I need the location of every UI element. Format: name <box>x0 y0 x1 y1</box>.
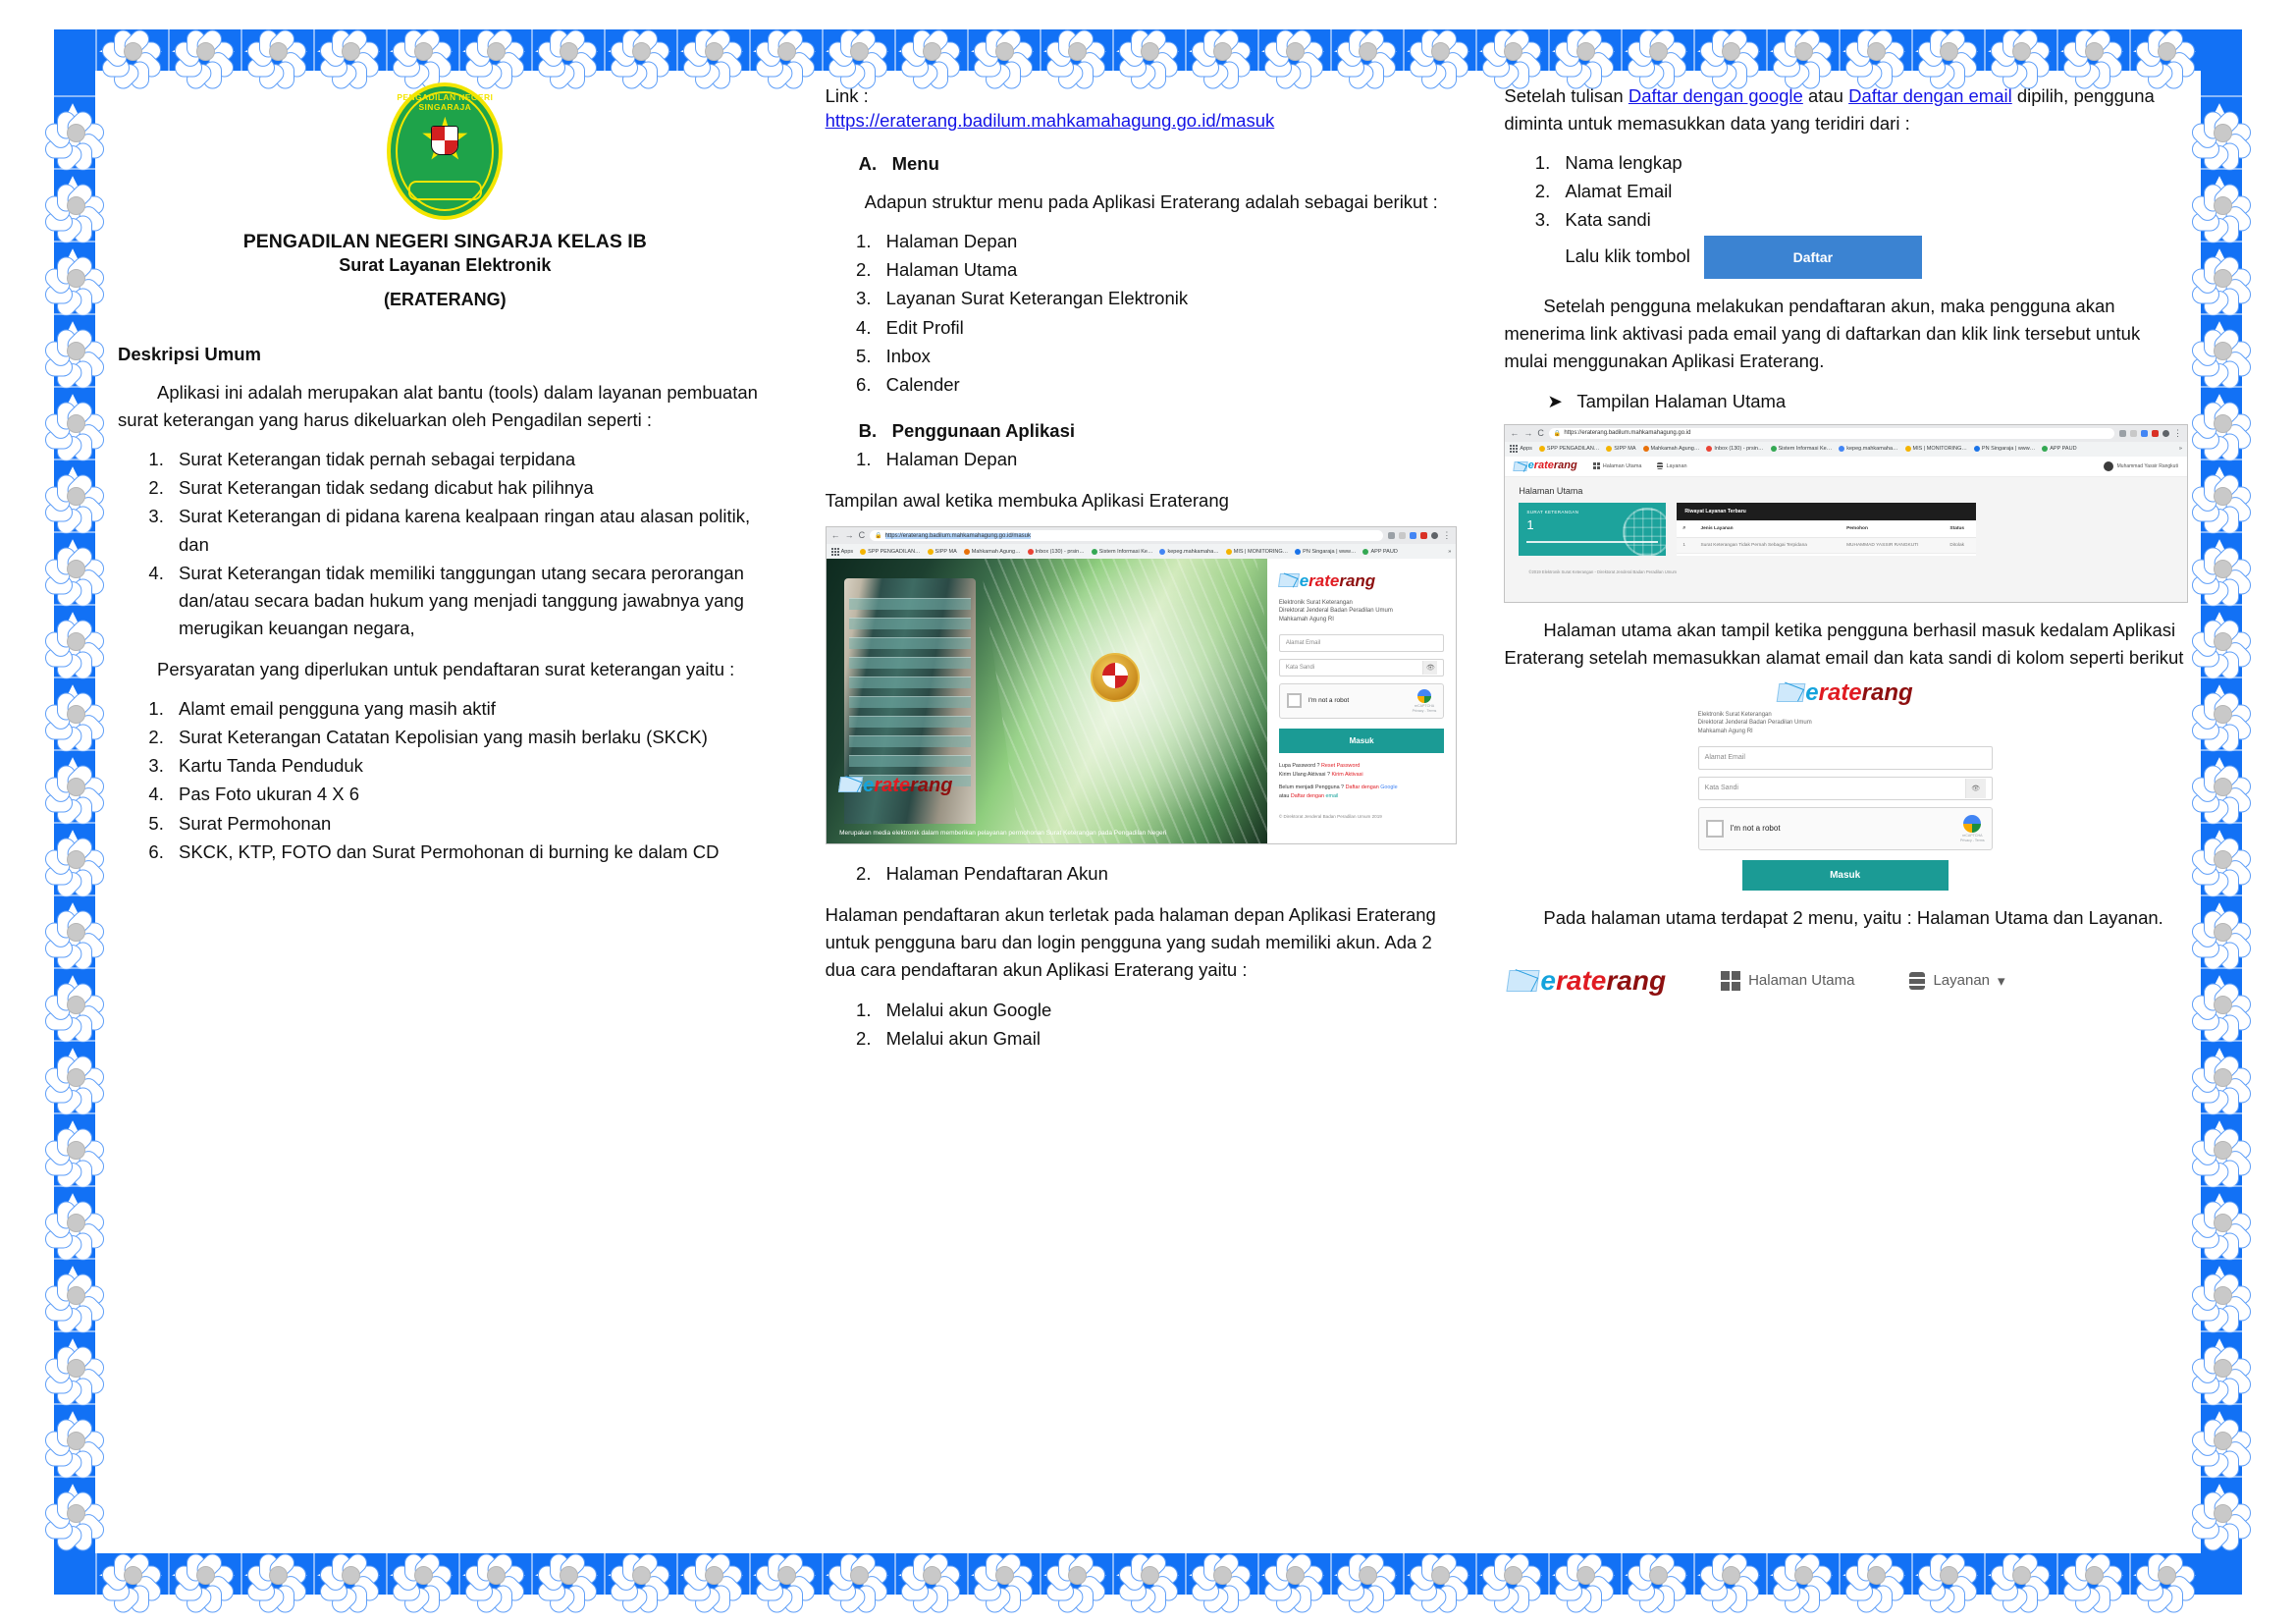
back-icon[interactable]: ← <box>831 531 840 540</box>
border-band-top <box>54 29 2242 71</box>
paragraph-persyaratan: Persyaratan yang diperlukan untuk pendaf… <box>118 656 773 683</box>
flower-rosette-icon <box>48 323 101 376</box>
chevron-down-icon: ▼ <box>2210 779 2229 820</box>
flower-rosette-icon <box>2195 396 2248 449</box>
toggle-password-visibility-icon[interactable]: 👁 <box>1422 661 1437 675</box>
bookmark-item[interactable]: Sistem Informasi Ke… <box>1092 549 1153 555</box>
chevron-up-icon: ▲ <box>2210 91 2229 133</box>
address-bar[interactable]: 🔒 https://eraterang.badilum.mahkamahagun… <box>870 530 1383 541</box>
bookmark-item[interactable]: Sistem Informasi Ke… <box>1771 446 1833 452</box>
browser-toolbar: ← → C 🔒 https://eraterang.badilum.mahkam… <box>1505 425 2187 442</box>
border-divider <box>386 29 388 71</box>
flower-rosette-icon <box>614 24 667 77</box>
flower-rosette-icon <box>541 1547 594 1600</box>
envelope-icon <box>1514 461 1528 471</box>
password-field[interactable]: Kata Sandi 👁 <box>1698 777 1993 800</box>
border-divider <box>54 604 95 606</box>
chevron-right-icon: ► <box>723 1553 743 1595</box>
flower-rosette-icon <box>468 1547 521 1600</box>
flower-rosette-icon <box>48 759 101 812</box>
chevron-right-icon: ► <box>1377 29 1397 71</box>
flower-rosette-icon <box>2195 105 2248 158</box>
recaptcha-terms: Privacy - Terms <box>1960 839 1985 842</box>
list-penggunaan: Halaman Depan <box>826 446 1456 473</box>
email-word[interactable]: email <box>1326 793 1339 799</box>
flower-rosette-icon <box>468 24 521 77</box>
chevron-left-icon: ◄ <box>1043 29 1063 71</box>
address-bar[interactable]: 🔒 https://eraterang.badilum.mahkamahagun… <box>1549 428 2114 439</box>
chevron-left-icon: ◄ <box>99 1553 119 1595</box>
border-divider <box>1548 29 1550 71</box>
recaptcha-widget[interactable]: I'm not a robot reCAPTCHA Privacy - Term… <box>1698 807 1993 850</box>
toggle-password-visibility-icon[interactable]: 👁 <box>1965 779 1986 798</box>
bookmark-item[interactable]: SIPP MA <box>928 549 957 555</box>
chevron-left-icon: ◄ <box>1407 1553 1426 1595</box>
border-divider <box>54 1185 95 1187</box>
bookmark-item[interactable]: Inbox (130) - prsin… <box>1706 446 1763 452</box>
login-subtitle: Elektronik Surat KeteranganDirektorat Je… <box>1279 599 1445 624</box>
envelope-icon <box>838 777 863 792</box>
bookmarks-overflow-icon[interactable]: » <box>2179 446 2182 452</box>
border-divider <box>240 1553 242 1595</box>
login-form-panel: eraterang Elektronik Surat KeteranganDir… <box>1267 559 1457 843</box>
favicon-icon <box>1643 446 1649 452</box>
flower-rosette-icon <box>2195 904 2248 957</box>
flower-rosette-icon <box>1485 24 1538 77</box>
flower-rosette-icon <box>48 396 101 449</box>
flower-rosette-icon <box>1630 24 1683 77</box>
border-divider <box>2201 1403 2242 1405</box>
chevron-down-icon: ▼ <box>2210 488 2229 529</box>
list-item: Edit Profil <box>877 314 1456 342</box>
chevron-left-icon: ◄ <box>1625 29 1644 71</box>
flower-rosette-icon <box>1921 24 1974 77</box>
chevron-down-icon: ▼ <box>63 561 82 602</box>
email-placeholder: Alamat Email <box>1705 754 1745 761</box>
browser-toolbar: ← → C 🔒 https://eraterang.badilum.mahkam… <box>827 527 1457 544</box>
flower-rosette-icon <box>48 1050 101 1103</box>
bookmark-item[interactable]: APP PAUD <box>2042 446 2076 452</box>
list-item: Inbox <box>877 343 1456 370</box>
bookmark-item[interactable]: kepeg.mahkamaha… <box>1839 446 1897 452</box>
chevron-down-icon: ▼ <box>2210 270 2229 311</box>
chevron-right-icon: ► <box>1740 1553 1760 1595</box>
favicon-icon <box>1539 446 1545 452</box>
extension-icon[interactable] <box>2141 430 2148 437</box>
riwayat-panel-title: Riwayat Layanan Terbaru <box>1677 503 1976 520</box>
user-name: Muhammad Yassir Rangkuti <box>2117 463 2178 469</box>
chevron-down-icon: ▾ <box>1998 972 2005 990</box>
bookmark-item[interactable]: Mahkamah Agung… <box>964 549 1021 555</box>
chevron-down-icon: ▼ <box>63 1142 82 1183</box>
bookmark-item[interactable]: PN Singaraja | www… <box>1974 446 2035 452</box>
chevron-right-icon: ► <box>1522 29 1542 71</box>
chevron-left-icon: ◄ <box>244 1553 264 1595</box>
chevron-left-icon: ◄ <box>1189 29 1208 71</box>
flower-rosette-icon <box>48 1122 101 1175</box>
chevron-right-icon: ► <box>2031 1553 2051 1595</box>
profile-avatar-icon[interactable] <box>2163 430 2169 437</box>
border-divider <box>1839 1553 1841 1595</box>
bookmark-item[interactable]: Mahkamah Agung… <box>1643 446 1700 452</box>
list-item-tombol: Lalu klik tombol Daftar <box>1555 236 2186 279</box>
chevron-right-icon: ► <box>142 1553 162 1595</box>
flower-rosette-icon <box>323 1547 376 1600</box>
chevron-down-icon: ▼ <box>63 125 82 166</box>
chevron-left-icon: ◄ <box>2060 1553 2080 1595</box>
flower-rosette-icon <box>1267 1547 1320 1600</box>
recaptcha-branding: reCAPTCHA Privacy - Terms <box>1960 814 1985 842</box>
border-divider <box>2201 1258 2242 1260</box>
border-divider <box>2129 1553 2131 1595</box>
flower-rosette-icon <box>105 1547 158 1600</box>
tombol-label: Lalu klik tombol <box>1565 243 1690 270</box>
chevron-down-icon: ▼ <box>63 270 82 311</box>
chevron-up-icon: ▲ <box>2210 455 2229 496</box>
email-field[interactable]: Alamat Email <box>1279 634 1445 652</box>
chevron-up-icon: ▲ <box>2210 1254 2229 1295</box>
chevron-up-icon: ▲ <box>2210 1181 2229 1222</box>
border-divider <box>1984 29 1986 71</box>
chevron-up-icon: ▲ <box>63 1254 82 1295</box>
flower-rosette-icon <box>48 1413 101 1466</box>
chevron-left-icon: ◄ <box>99 29 119 71</box>
chevron-right-icon: ► <box>1668 1553 1687 1595</box>
chevron-down-icon: ▼ <box>2210 1215 2229 1256</box>
border-divider <box>168 29 170 71</box>
chevron-down-icon: ▼ <box>2210 415 2229 457</box>
heading-deskripsi-umum: Deskripsi Umum <box>118 344 773 365</box>
email-field[interactable]: Alamat Email <box>1698 746 1993 770</box>
border-divider <box>2201 1112 2242 1114</box>
recaptcha-checkbox[interactable] <box>1706 820 1724 838</box>
chevron-up-icon: ▲ <box>2210 818 2229 859</box>
table-cell: 1 <box>1677 537 1694 553</box>
bookmark-label: MIS | MONITORING… <box>1913 446 1967 452</box>
page-subtitle: Surat Layanan Elektronik <box>118 255 773 276</box>
chevron-up-icon: ▲ <box>2210 1472 2229 1513</box>
chevron-left-icon: ◄ <box>826 29 845 71</box>
bookmark-item[interactable]: MIS | MONITORING… <box>1905 446 1967 452</box>
image-icon[interactable] <box>2119 430 2126 437</box>
border-divider <box>1911 29 1913 71</box>
border-divider <box>894 1553 896 1595</box>
bookmark-item[interactable]: kepeg.mahkamaha… <box>1159 549 1218 555</box>
border-divider <box>2056 29 2058 71</box>
flower-rosette-icon <box>1921 1547 1974 1600</box>
flower-rosette-icon <box>2195 1122 2248 1175</box>
eraterang-logo: eraterang <box>1279 572 1375 589</box>
main-page-footer: ©2019 Elektronik Surat Keterangan - Dire… <box>1505 556 2187 574</box>
flower-rosette-icon <box>2195 1340 2248 1393</box>
flower-rosette-icon <box>1558 24 1611 77</box>
border-divider <box>676 1553 678 1595</box>
border-divider <box>1040 29 1041 71</box>
star-icon[interactable] <box>1399 532 1406 539</box>
border-divider <box>2201 822 2242 824</box>
chevron-right-icon: ► <box>796 1553 816 1595</box>
table-row[interactable]: 1Surat Keterangan Tidak Pernah Sebagai T… <box>1677 537 1976 553</box>
flower-rosette-icon <box>48 178 101 231</box>
extension2-icon[interactable] <box>2152 430 2159 437</box>
eraterang-logo: eraterang <box>1778 681 1913 705</box>
list-persyaratan: Alamt email pengguna yang masih aktifSur… <box>118 695 773 866</box>
login-helper-links: Lupa Password ? Reset Password Kirim Ula… <box>1279 762 1445 802</box>
chevron-left-icon: ◄ <box>1697 29 1717 71</box>
list-item: Pas Foto ukuran 4 X 6 <box>169 781 773 808</box>
chevron-up-icon: ▲ <box>2210 1326 2229 1368</box>
border-band-right <box>2201 29 2242 1595</box>
border-divider <box>604 1553 606 1595</box>
app-name: (ERATERANG) <box>118 290 773 310</box>
border-divider <box>1185 1553 1187 1595</box>
resend-activation-link[interactable]: Kirim Aktivasi <box>1331 772 1362 778</box>
chevron-left-icon: ◄ <box>826 1553 845 1595</box>
table-column-header: Pemohon <box>1841 520 1944 538</box>
chevron-down-icon: ▼ <box>63 488 82 529</box>
chevron-left-icon: ◄ <box>317 1553 337 1595</box>
intro-pre: Setelah tulisan <box>1504 85 1629 106</box>
image-icon[interactable] <box>1388 532 1395 539</box>
chevron-down-icon: ▼ <box>63 1215 82 1256</box>
extension2-icon[interactable] <box>1420 532 1427 539</box>
border-divider <box>95 29 97 71</box>
password-field[interactable]: Kata Sandi 👁 <box>1279 659 1445 677</box>
reload-icon[interactable]: C <box>1537 429 1544 438</box>
flower-rosette-icon <box>2195 178 2248 231</box>
favicon-icon <box>1839 446 1844 452</box>
border-divider <box>2201 1330 2242 1332</box>
flower-rosette-icon <box>686 24 739 77</box>
flower-rosette-icon <box>1558 1547 1611 1600</box>
envelope-icon <box>1776 683 1805 702</box>
border-divider <box>168 1553 170 1595</box>
arrow-bullet-icon: ➤ <box>1547 391 1576 412</box>
bookmark-item[interactable]: PN Singaraja | www… <box>1295 549 1356 555</box>
favicon-icon <box>2042 446 2048 452</box>
border-divider <box>2201 168 2242 170</box>
eraterang-url-link[interactable]: https://eraterang.badilum.mahkamahagung.… <box>826 110 1275 131</box>
favicon-icon <box>1226 549 1232 555</box>
flower-rosette-icon <box>105 24 158 77</box>
chevron-right-icon: ► <box>1886 1553 1905 1595</box>
chevron-up-icon: ▲ <box>2210 891 2229 932</box>
border-divider <box>2201 967 2242 969</box>
border-band-left <box>54 29 95 1595</box>
flower-rosette-icon <box>48 541 101 594</box>
flower-rosette-icon <box>1340 1547 1393 1600</box>
flower-rosette-icon <box>2195 323 2248 376</box>
apps-shortcut[interactable]: Apps <box>831 548 854 556</box>
back-icon[interactable]: ← <box>1510 429 1519 438</box>
flower-rosette-icon <box>48 1340 101 1393</box>
chevron-right-icon: ► <box>215 29 235 71</box>
seal-text: PENGADILAN NEGERI SINGARAJA <box>387 92 503 112</box>
chevron-down-icon: ▼ <box>2210 1505 2229 1546</box>
chevron-right-icon: ► <box>1958 1553 1978 1595</box>
envelope-icon <box>1278 573 1300 587</box>
chevron-down-icon: ▼ <box>63 779 82 820</box>
chevron-left-icon: ◄ <box>1915 1553 1935 1595</box>
profile-avatar-icon[interactable] <box>1431 532 1438 539</box>
flower-rosette-icon <box>977 24 1030 77</box>
chevron-left-icon: ◄ <box>2133 29 2153 71</box>
bookmarks-overflow-icon[interactable]: » <box>1448 549 1451 555</box>
recaptcha-widget[interactable]: I'm not a robot reCAPTCHA Privacy - Term… <box>1279 683 1445 719</box>
chevron-down-icon: ▼ <box>2210 1069 2229 1110</box>
flower-rosette-icon <box>2195 832 2248 885</box>
chevron-right-icon: ► <box>288 1553 307 1595</box>
border-divider <box>1257 29 1259 71</box>
border-divider <box>2129 29 2131 71</box>
list-item: Alamt email pengguna yang masih aktif <box>169 695 773 723</box>
border-divider <box>2201 531 2242 533</box>
star-icon[interactable] <box>2130 430 2137 437</box>
border-divider <box>1330 1553 1332 1595</box>
recaptcha-checkbox[interactable] <box>1287 693 1302 708</box>
bookmark-item[interactable]: Inbox (130) - prsin… <box>1028 549 1085 555</box>
chevron-right-icon: ► <box>433 29 453 71</box>
chevron-left-icon: ◄ <box>1479 29 1499 71</box>
chevron-left-icon: ◄ <box>1116 29 1136 71</box>
daftar-dengan-email-link[interactable]: Daftar dengan email <box>1848 85 2012 106</box>
chevron-down-icon: ▼ <box>63 1433 82 1474</box>
chevron-right-icon: ► <box>1087 29 1106 71</box>
bookmark-label: Inbox (130) - prsin… <box>1714 446 1763 452</box>
globe-icon <box>1623 508 1666 556</box>
chevron-up-icon: ▲ <box>2210 527 2229 568</box>
address-bar-url: https://eraterang.badilum.mahkamahagung.… <box>885 533 1031 539</box>
reload-icon[interactable]: C <box>859 531 866 540</box>
bookmark-label: kepeg.mahkamaha… <box>1167 549 1218 555</box>
section-b-title: Penggunaan Aplikasi <box>892 420 1075 441</box>
list-item: Halaman Pendaftaran Akun <box>877 860 1456 888</box>
recaptcha-icon <box>1417 689 1431 703</box>
court-seal-wrapper: PENGADILAN NEGERI SINGARAJA <box>118 82 773 225</box>
bookmark-item[interactable]: SIPP MA <box>1606 446 1635 452</box>
border-divider <box>54 1040 95 1042</box>
apps-shortcut[interactable]: Apps <box>1510 445 1532 453</box>
bookmark-item[interactable]: APP PAUD <box>1362 549 1397 555</box>
chevron-right-icon: ► <box>578 29 598 71</box>
flower-rosette-icon <box>48 105 101 158</box>
masuk-button[interactable]: Masuk <box>1742 860 1949 891</box>
menu-kebab-icon[interactable]: ⋮ <box>2173 429 2182 438</box>
forward-icon[interactable]: → <box>845 531 854 540</box>
chevron-right-icon: ► <box>651 29 670 71</box>
favicon-icon <box>1092 549 1097 555</box>
list-item: Melalui akun Gmail <box>877 1025 1456 1053</box>
daftar-dengan-google-link[interactable]: Daftar dengan google <box>1629 85 1803 106</box>
subtitle-line: Elektronik Surat Keterangan <box>1698 711 1993 720</box>
navbar-item-layanan[interactable]: Layanan <box>1657 462 1686 469</box>
register-google-link[interactable]: Daftar dengan <box>1346 785 1379 790</box>
chevron-down-icon: ▼ <box>2210 1142 2229 1183</box>
masuk-button[interactable]: Masuk <box>1279 729 1445 753</box>
border-divider <box>2201 749 2242 751</box>
flower-rosette-icon <box>2195 686 2248 739</box>
border-divider <box>1911 1553 1913 1595</box>
daftar-button[interactable]: Daftar <box>1704 236 1922 279</box>
flower-rosette-icon <box>1994 1547 2047 1600</box>
flower-rosette-icon <box>1776 1547 1829 1600</box>
table-column-header: # <box>1677 520 1694 538</box>
list-cara-pendaftaran: Melalui akun GoogleMelalui akun Gmail <box>826 997 1456 1053</box>
bookmark-item[interactable]: SPP PENGADILAN… <box>860 549 920 555</box>
chevron-right-icon: ► <box>1958 29 1978 71</box>
border-divider <box>54 1258 95 1260</box>
list-item: Surat Keterangan tidak pernah sebagai te… <box>169 446 773 473</box>
border-divider <box>1766 29 1768 71</box>
flower-rosette-icon <box>396 1547 449 1600</box>
intro-mid: atau <box>1803 85 1848 106</box>
chevron-right-icon: ► <box>360 29 380 71</box>
register-email-link[interactable]: Daftar dengan <box>1291 793 1324 799</box>
chevron-left-icon: ◄ <box>2133 1553 2153 1595</box>
apps-label: Apps <box>1520 446 1532 452</box>
email-placeholder: Alamat Email <box>1286 640 1320 646</box>
navbar-item-layanan[interactable]: Layanan ▾ <box>1909 972 2004 990</box>
border-divider <box>822 29 824 71</box>
chevron-up-icon: ▲ <box>63 818 82 859</box>
eraterang-logo[interactable]: eraterang <box>1514 460 1576 471</box>
login-card-subtitle: Elektronik Surat KeteranganDirektorat Je… <box>1698 711 1993 736</box>
flower-rosette-icon <box>2195 1268 2248 1321</box>
border-divider <box>54 313 95 315</box>
chevron-up-icon: ▲ <box>63 963 82 1004</box>
border-divider <box>386 1553 388 1595</box>
favicon-icon <box>1028 549 1034 555</box>
flower-rosette-icon <box>2195 1486 2248 1539</box>
chevron-right-icon: ► <box>578 1553 598 1595</box>
list-item: Halaman Utama <box>877 256 1456 284</box>
flower-rosette-icon <box>323 24 376 77</box>
chevron-right-icon: ► <box>941 29 961 71</box>
reset-password-link[interactable]: Reset Password <box>1321 763 1360 769</box>
bookmark-item[interactable]: MIS | MONITORING… <box>1226 549 1288 555</box>
chevron-left-icon: ◄ <box>172 1553 191 1595</box>
chevron-left-icon: ◄ <box>1116 1553 1136 1595</box>
menu-kebab-icon[interactable]: ⋮ <box>1442 531 1451 540</box>
stat-card-surat-keterangan[interactable]: SURAT KETERANGAN 1 <box>1519 503 1666 556</box>
section-a-heading: A.Menu <box>859 153 1456 175</box>
chevron-left-icon: ◄ <box>1334 29 1354 71</box>
forward-icon[interactable]: → <box>1523 429 1532 438</box>
navbar-label-layanan: Layanan <box>1933 972 1990 989</box>
chevron-up-icon: ▲ <box>2210 382 2229 423</box>
navbar-item-halaman-utama[interactable]: Halaman Utama <box>1721 971 1854 991</box>
chevron-up-icon: ▲ <box>63 1109 82 1150</box>
chevron-left-icon: ◄ <box>898 29 918 71</box>
table-header-row: #Jenis LayananPemohonStatus <box>1677 520 1976 538</box>
bookmark-item[interactable]: SPP PENGADILAN… <box>1539 446 1599 452</box>
border-divider <box>2201 459 2242 460</box>
navbar-item-halaman-utama[interactable]: Halaman Utama <box>1593 462 1642 469</box>
extension-icon[interactable] <box>1410 532 1416 539</box>
user-menu[interactable]: Muhammad Yassir Rangkuti <box>2104 461 2178 471</box>
border-divider <box>2201 894 2242 896</box>
navbar-label-halaman-utama: Halaman Utama <box>1748 972 1854 989</box>
border-divider <box>1693 1553 1695 1595</box>
list-item: Surat Keterangan Catatan Kepolisian yang… <box>169 724 773 751</box>
google-word[interactable]: Google <box>1380 785 1397 790</box>
bookmark-label: SIPP MA <box>935 549 957 555</box>
border-divider <box>1984 1553 1986 1595</box>
chevron-down-icon: ▼ <box>2210 561 2229 602</box>
bullet-tampilan-halaman-utama: ➤Tampilan Halaman Utama <box>1547 391 2186 412</box>
chevron-right-icon: ► <box>941 1553 961 1595</box>
border-divider <box>1693 29 1695 71</box>
